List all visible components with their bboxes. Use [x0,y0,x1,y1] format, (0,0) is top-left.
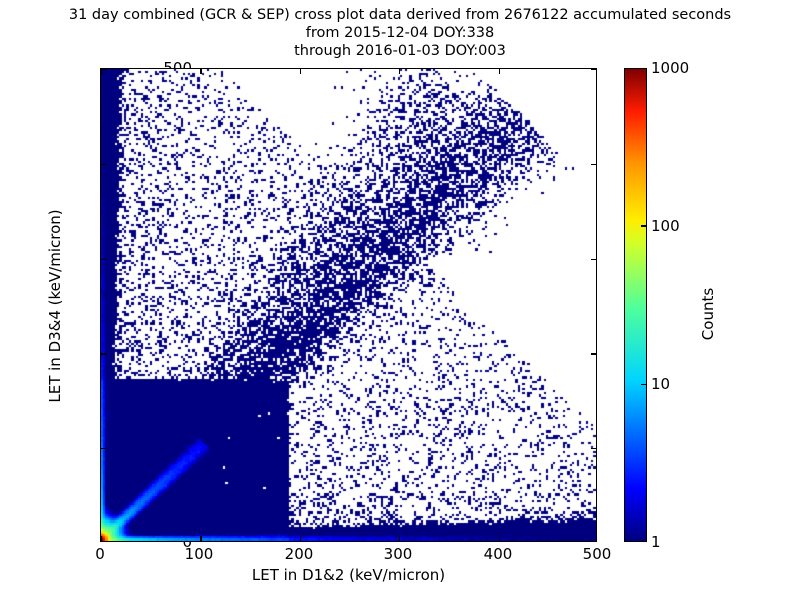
x-axis-tick-top [200,69,201,74]
colorbar-tick-label: 1 [651,535,661,550]
y-axis-tick-right [591,541,596,542]
colorbar-tick-label: 100 [651,219,680,234]
density-scatter-plot [101,69,596,541]
x-axis-tick-top [300,69,301,74]
colorbar-gradient [625,69,646,541]
plot-title: 31 day combined (GCR & SEP) cross plot d… [0,6,800,60]
y-axis-tick [101,448,106,449]
x-axis-tick [101,536,102,541]
x-axis-tick-top [399,69,400,74]
x-axis-tick-top [101,69,102,74]
y-axis-tick [101,259,106,260]
plot-area[interactable] [100,68,597,542]
figure-canvas: 31 day combined (GCR & SEP) cross plot d… [0,0,800,600]
y-axis-tick-right [591,353,596,354]
x-axis-tick [300,536,301,541]
x-tick-label: 100 [169,547,229,562]
x-axis-tick-top [499,69,500,74]
colorbar-tick-label: 1000 [651,61,689,76]
x-axis-tick [499,536,500,541]
title-line-3: through 2016-01-03 DOY:003 [0,42,800,60]
colorbar-tick-label: 10 [651,377,670,392]
x-axis-tick [596,536,597,541]
y-axis-tick-right [591,164,596,165]
x-tick-label: 500 [567,547,627,562]
colorbar-tick [641,225,646,226]
colorbar-tick [641,384,646,385]
x-axis-tick-top [596,69,597,74]
y-axis-tick-right [591,448,596,449]
y-axis-tick [101,541,106,542]
x-tick-label: 300 [368,547,428,562]
x-tick-label: 400 [468,547,528,562]
x-axis-label: LET in D1&2 (keV/micron) [100,566,597,584]
title-line-1: 31 day combined (GCR & SEP) cross plot d… [0,6,800,24]
title-line-2: from 2015-12-04 DOY:338 [0,24,800,42]
y-axis-tick [101,353,106,354]
x-axis-tick [200,536,201,541]
y-axis-tick [101,164,106,165]
x-tick-label: 0 [70,547,130,562]
y-axis-label: LET in D3&4 (keV/micron) [46,96,64,516]
x-axis-tick [399,536,400,541]
colorbar-label: Counts [699,209,717,419]
x-tick-label: 200 [269,547,329,562]
colorbar[interactable] [624,68,647,542]
y-axis-tick-right [591,259,596,260]
